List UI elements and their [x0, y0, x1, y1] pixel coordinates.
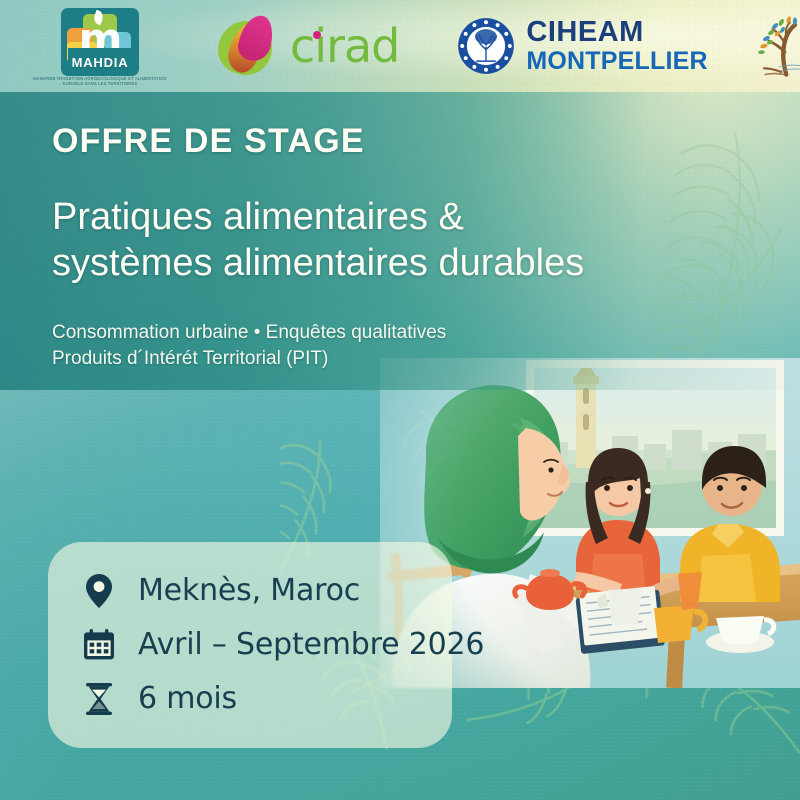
partner-logo-strip: m MAHDIA MAGHREB TRANSITION AGROECOLOGIQ…: [0, 0, 800, 92]
location-pin-icon: [82, 572, 116, 610]
ciheam-seal-icon: [457, 17, 515, 75]
detail-row-location: Meknès, Maroc: [82, 572, 452, 610]
page-subtitle: Consommation urbaine • Enquêtes qualitat…: [52, 320, 800, 372]
offer-kicker: OFFRE DE STAGE: [52, 122, 800, 160]
logo-mahdia: m MAHDIA MAGHREB TRANSITION AGROECOLOGIQ…: [54, 8, 146, 84]
page-title: Pratiques alimentaires & systèmes alimen…: [52, 194, 672, 286]
page-title-line-2: systèmes alimentaires durables: [52, 240, 672, 286]
detail-row-period: Avril – Septembre 2026: [82, 626, 452, 664]
logo-cirad: cirad: [218, 15, 399, 77]
ciheam-city: MONTPELLIER: [526, 49, 707, 74]
page-title-line-1: Pratiques alimentaires &: [52, 194, 672, 240]
cirad-wordmark-text: cirad: [290, 19, 399, 73]
cirad-wordmark: cirad: [290, 23, 399, 69]
detail-duration-label: 6 mois: [138, 682, 237, 716]
internship-details-card: Meknès, Maroc Avril – Septembre 2: [48, 542, 452, 748]
headline-panel: OFFRE DE STAGE Pratiques alimentaires & …: [0, 92, 800, 390]
mahdia-tagline: MAGHREB TRANSITION AGROECOLOGIQUE ET ALI…: [26, 77, 173, 88]
page-subtitle-line-2: Produits d´Intérét Territorial (PIT): [52, 346, 800, 372]
calendar-icon: [82, 626, 116, 664]
mahdia-emblem-icon: m MAHDIA: [61, 8, 139, 76]
logo-medae: MEDAE Mediterranean Institute for Agroec…: [752, 15, 800, 77]
cirad-dot-icon: [313, 31, 321, 39]
ciheam-wordmark: CIHEAM: [526, 18, 707, 47]
poster-internship-offer: m MAHDIA MAGHREB TRANSITION AGROECOLOGIQ…: [0, 0, 800, 800]
cirad-seed-icon: [218, 15, 280, 77]
medae-tree-icon: [752, 15, 800, 77]
detail-location-label: Meknès, Maroc: [138, 574, 360, 608]
detail-period-label: Avril – Septembre 2026: [138, 628, 484, 662]
page-subtitle-line-1: Consommation urbaine • Enquêtes qualitat…: [52, 320, 800, 346]
hourglass-icon: [82, 680, 116, 718]
detail-row-duration: 6 mois: [82, 680, 452, 718]
logo-ciheam-montpellier: CIHEAM MONTPELLIER: [457, 17, 707, 75]
mahdia-wordmark: MAHDIA: [61, 55, 139, 70]
